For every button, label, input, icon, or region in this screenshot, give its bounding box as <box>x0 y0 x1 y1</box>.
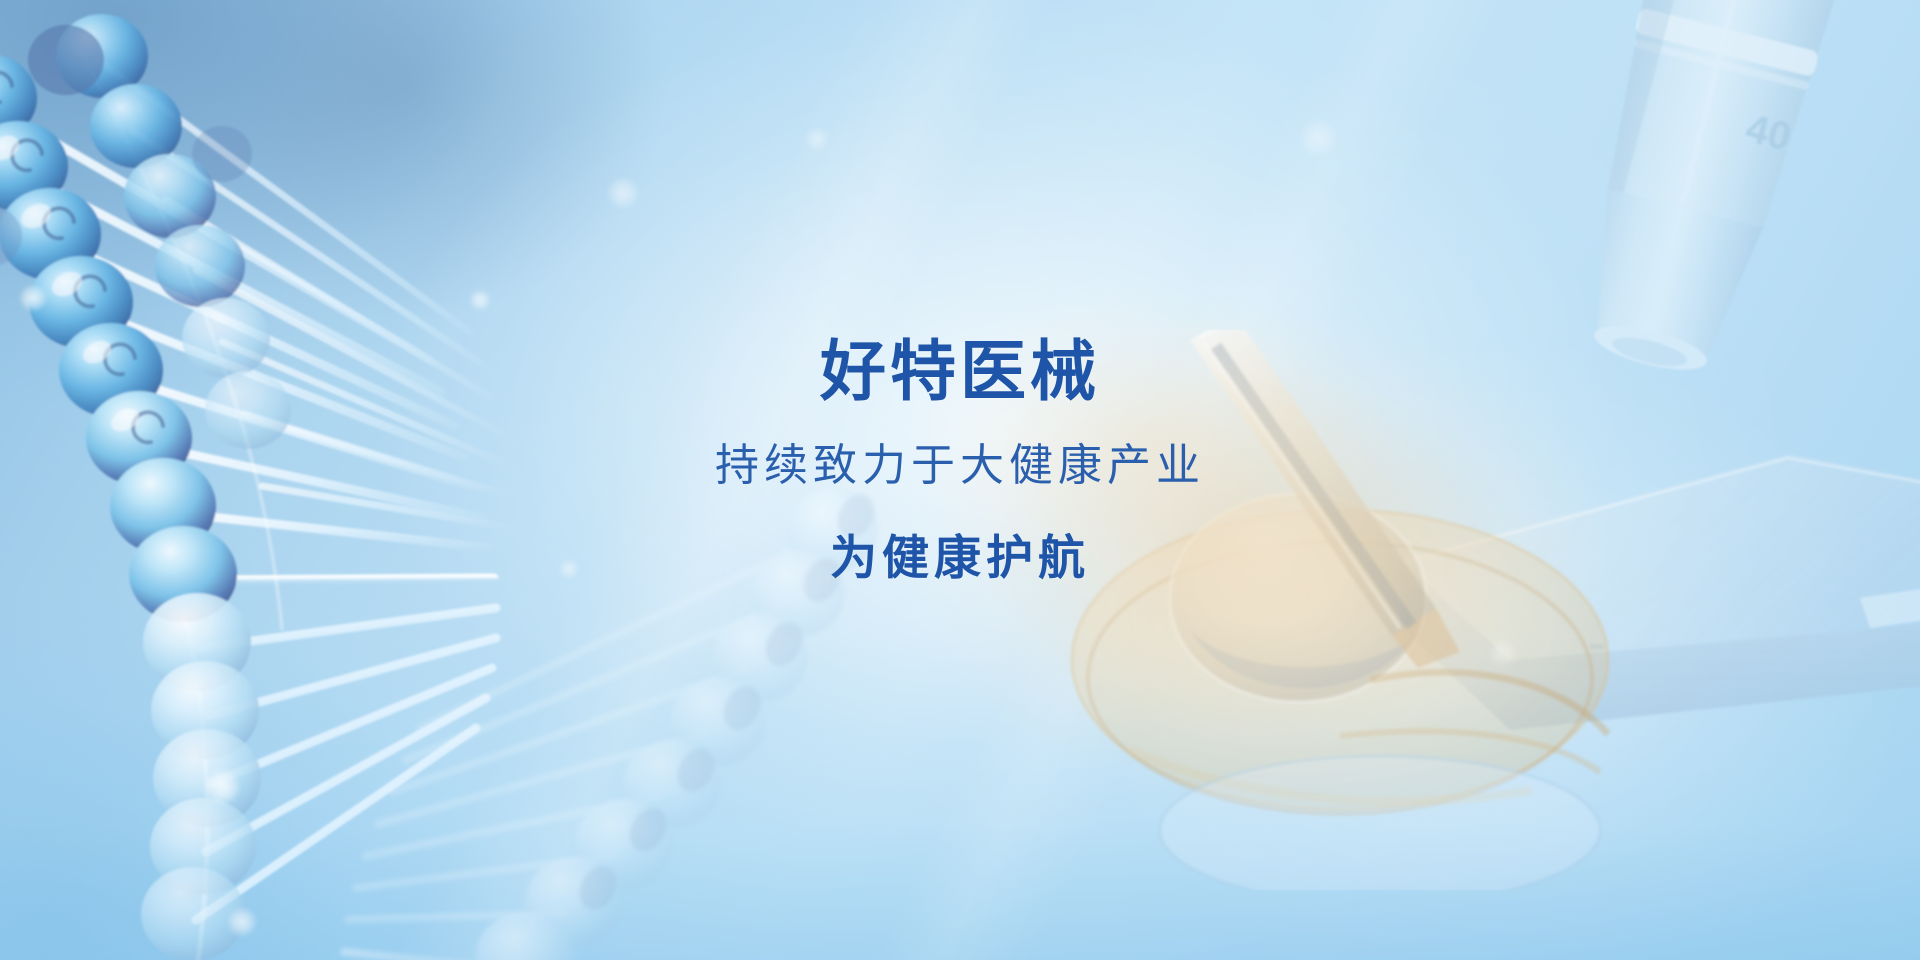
bokeh-dot <box>608 178 638 208</box>
bokeh-dot <box>205 770 239 804</box>
bokeh-dot <box>1300 120 1336 156</box>
microscope-magnification-label: 40 <box>1741 106 1795 159</box>
company-subtitle: 持续致力于大健康产业 <box>0 444 1920 488</box>
bokeh-dot <box>20 285 46 311</box>
company-name-heading: 好特医械 <box>0 338 1920 404</box>
bokeh-dot <box>806 128 828 150</box>
bokeh-dot <box>228 908 256 936</box>
hero-text-block: 好特医械 持续致力于大健康产业 为健康护航 <box>0 338 1920 581</box>
bokeh-dot <box>1490 640 1516 666</box>
company-tagline: 为健康护航 <box>0 534 1920 581</box>
hero-banner: 40 <box>0 0 1920 960</box>
bokeh-dot <box>470 290 490 310</box>
